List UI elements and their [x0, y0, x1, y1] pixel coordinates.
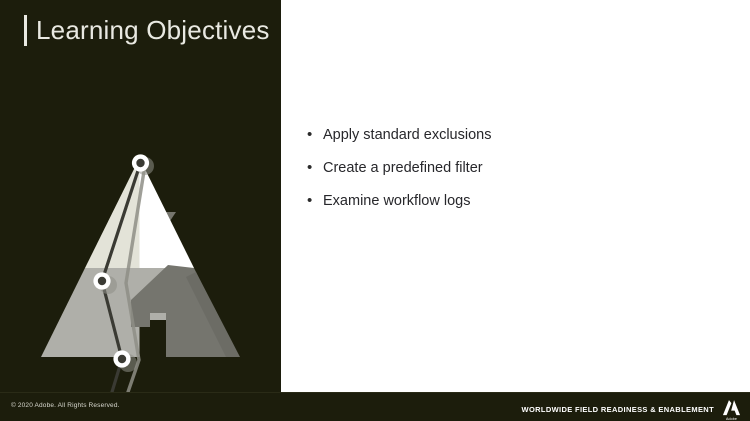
copyright-text: © 2020 Adobe. All Rights Reserved.: [11, 401, 120, 411]
content-panel: • Apply standard exclusions • Create a p…: [281, 0, 750, 392]
list-item-label: Create a predefined filter: [323, 157, 483, 179]
list-item-label: Examine workflow logs: [323, 190, 470, 212]
list-item-label: Apply standard exclusions: [323, 124, 491, 146]
bullet-icon: •: [307, 124, 323, 146]
bullet-icon: •: [307, 157, 323, 179]
waypoint-core-mid: [98, 277, 106, 285]
slide-canvas: Learning Objectives: [0, 0, 750, 421]
footer-branding: WORLDWIDE FIELD READINESS & ENABLEMENT: [522, 398, 742, 419]
list-item: • Apply standard exclusions: [307, 124, 727, 146]
adobe-logo-icon: [721, 398, 742, 419]
bullet-icon: •: [307, 190, 323, 212]
page-title: Learning Objectives: [36, 12, 270, 48]
title-block: Learning Objectives: [0, 0, 281, 62]
list-item: • Create a predefined filter: [307, 157, 727, 179]
mountain-illustration: [0, 95, 281, 393]
left-dark-panel: Learning Objectives: [0, 0, 281, 421]
list-item: • Examine workflow logs: [307, 190, 727, 212]
title-accent-bar: [24, 15, 27, 46]
footer-bar: © 2020 Adobe. All Rights Reserved. WORLD…: [0, 392, 750, 421]
waypoint-core-summit: [136, 159, 144, 167]
waypoint-core-lower: [118, 355, 126, 363]
organization-label: WORLDWIDE FIELD READINESS & ENABLEMENT: [522, 401, 714, 416]
adobe-logo-label: Adobe: [721, 417, 742, 421]
objectives-list: • Apply standard exclusions • Create a p…: [307, 124, 727, 223]
